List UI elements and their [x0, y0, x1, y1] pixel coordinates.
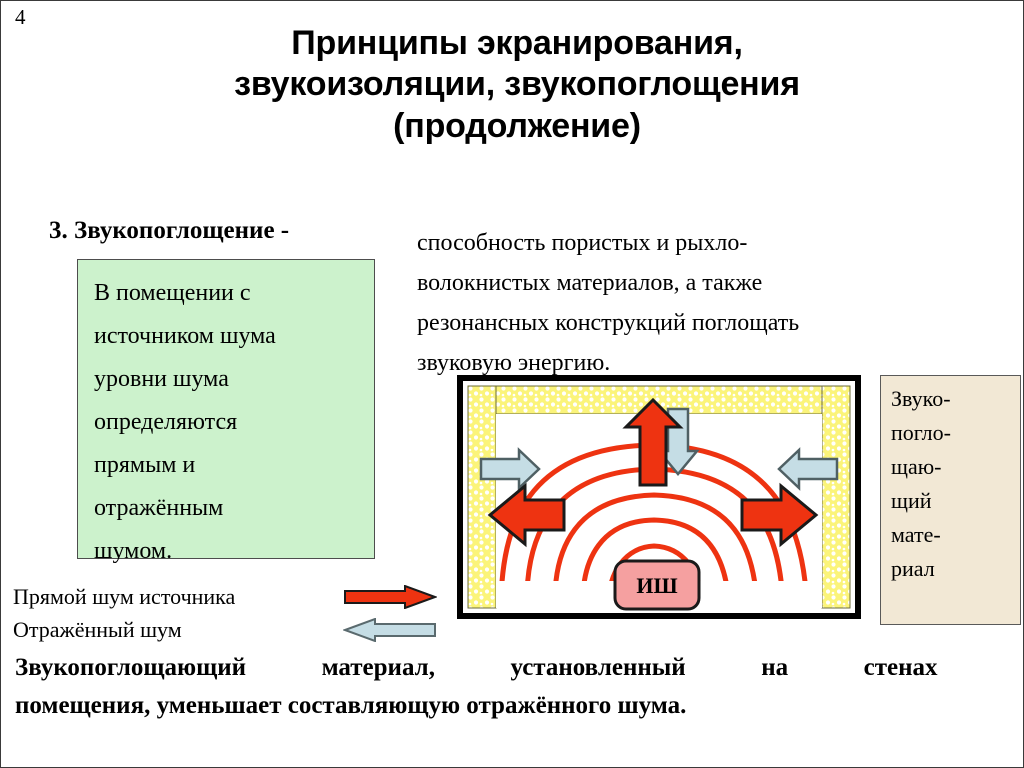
material-line-3: щаю-: [891, 450, 1020, 484]
slide-number: 4: [15, 7, 26, 28]
green-line-3: уровни шума: [94, 358, 360, 401]
conclusion-word-1: Звукопоглощающий: [15, 649, 246, 687]
paragraph-line-3: резонансных конструкций поглощать: [417, 303, 977, 343]
green-line-7: шумом.: [94, 530, 360, 573]
noise-source-box: ИШ: [615, 561, 699, 609]
paragraph-line-2: волокнистых материалов, а также: [417, 263, 977, 303]
green-line-6: отражённым: [94, 487, 360, 530]
material-line-5: мате-: [891, 518, 1020, 552]
material-line-6: риал: [891, 552, 1020, 586]
title-line-1: Принципы экранирования,: [97, 23, 937, 64]
green-line-4: определяются: [94, 401, 360, 444]
conclusion-word-4: на: [761, 649, 788, 687]
slide-canvas: 4 Принципы экранирования, звукоизоляции,…: [0, 0, 1024, 768]
left-arrow-blue-icon: [343, 618, 437, 642]
legend-label-direct-noise: Прямой шум источника: [13, 581, 235, 612]
legend-item-direct-noise: Прямой шум источника: [13, 581, 453, 614]
page-title: Принципы экранирования, звукоизоляции, з…: [97, 23, 937, 147]
conclusion-word-5: стенах: [864, 649, 938, 687]
title-line-3: (продолжение): [97, 106, 937, 147]
right-arrow-red-icon: [343, 585, 437, 609]
green-line-5: прямым и: [94, 444, 360, 487]
conclusion-line-2: помещения, уменьшает составляющую отражё…: [15, 687, 1013, 725]
green-line-2: источником шума: [94, 315, 360, 358]
conclusion-word-2: материал,: [322, 649, 435, 687]
noise-source-label: ИШ: [636, 573, 677, 598]
conclusion-line-1: Звукопоглощающий материал, установленный…: [15, 649, 1013, 687]
material-line-2: погло-: [891, 416, 1020, 450]
conclusion-word-3: установленный: [510, 649, 685, 687]
material-line-1: Звуко-: [891, 382, 1020, 416]
definition-paragraph: способность пористых и рыхло- волокнисты…: [417, 223, 977, 383]
paragraph-line-1: способность пористых и рыхло-: [417, 223, 977, 263]
conclusion-text: Звукопоглощающий материал, установленный…: [15, 649, 1013, 725]
material-line-4: щий: [891, 484, 1020, 518]
section-heading: 3. Звукопоглощение -: [49, 217, 289, 245]
legend: Прямой шум источника Отражённый шум: [13, 581, 453, 647]
legend-label-reflected-noise: Отражённый шум: [13, 614, 182, 645]
absorbing-material-label-box: Звуко- погло- щаю- щий мате- риал: [880, 375, 1021, 625]
green-callout-box: В помещении с источником шума уровни шум…: [77, 259, 375, 559]
title-line-2: звукоизоляции, звукопоглощения: [97, 64, 937, 105]
legend-item-reflected-noise: Отражённый шум: [13, 614, 453, 647]
green-line-1: В помещении с: [94, 272, 360, 315]
room-absorption-diagram: ИШ: [457, 375, 861, 619]
